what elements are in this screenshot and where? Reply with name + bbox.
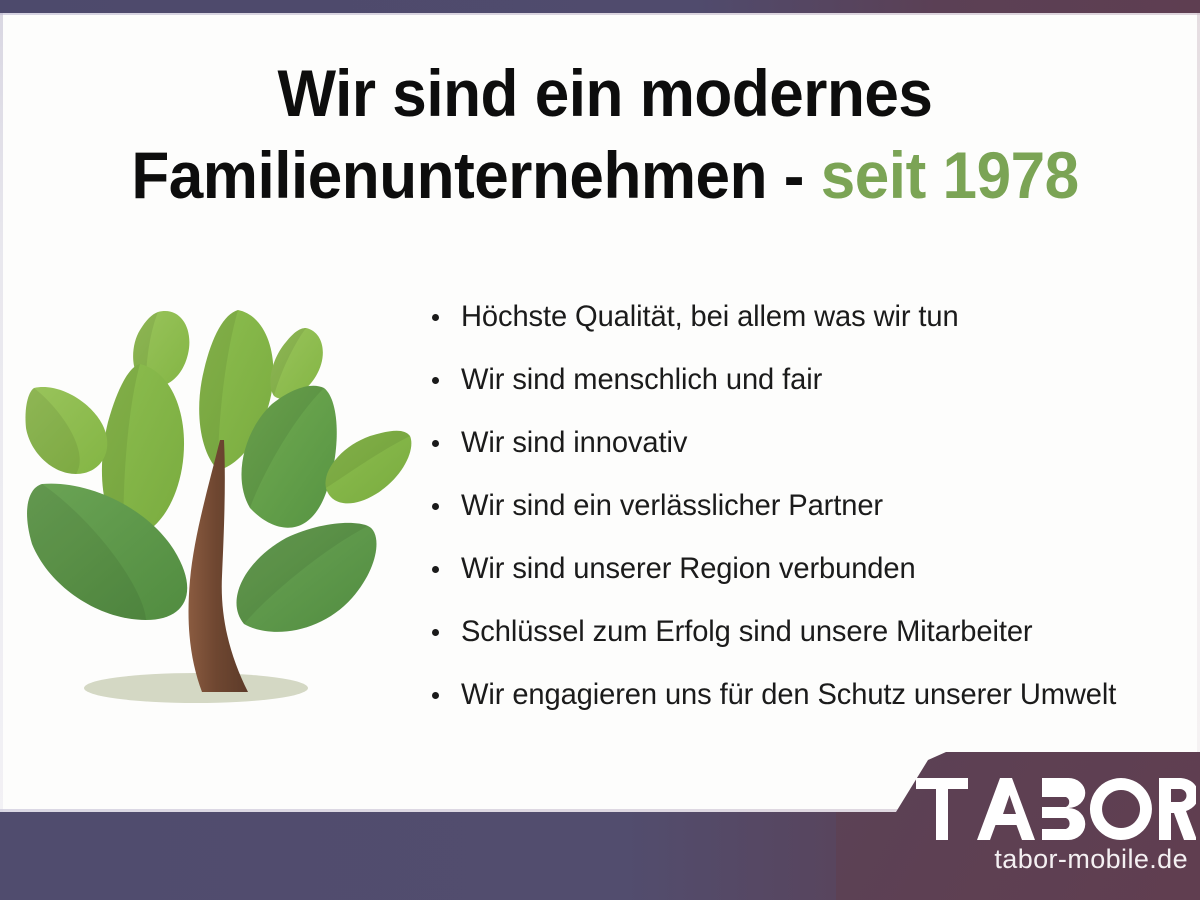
bullet-dot-icon (432, 503, 439, 510)
tree-trunk (189, 440, 249, 692)
leaf-far-right (325, 431, 411, 504)
bullet-dot-icon (432, 629, 439, 636)
bullet-dot-icon (432, 566, 439, 573)
headline-line-1: Wir sind ein modernes (278, 56, 933, 130)
left-edge-strip (0, 13, 3, 812)
slide-canvas: Wir sind ein modernes Familienunternehme… (0, 0, 1200, 900)
list-item: Höchste Qualität, bei allem was wir tun (428, 285, 1188, 348)
bullet-dot-icon (432, 440, 439, 447)
bullet-dot-icon (432, 692, 439, 699)
headline-line-2-prefix: Familienunternehmen - (131, 138, 820, 212)
slide-headline: Wir sind ein modernes Familienunternehme… (93, 52, 1118, 216)
bullet-label: Wir sind menschlich und fair (461, 363, 822, 397)
list-item: Wir sind unserer Region verbunden (428, 537, 1188, 600)
bullet-label: Wir sind ein verlässlicher Partner (461, 489, 883, 523)
top-bar-hairline (0, 13, 1200, 15)
bullet-label: Wir sind innovativ (461, 426, 687, 460)
tree-shadow (84, 673, 308, 703)
bullet-label: Wir sind unserer Region verbunden (461, 552, 916, 586)
headline-accent-year: seit 1978 (821, 138, 1079, 212)
list-item: Wir sind innovativ (428, 411, 1188, 474)
list-item: Schlüssel zum Erfolg sind unsere Mitarbe… (428, 600, 1188, 663)
logo-url-label[interactable]: tabor-mobile.de (916, 844, 1188, 875)
bullet-label: Höchste Qualität, bei allem was wir tun (461, 300, 959, 334)
leaf-lower-right (236, 523, 376, 632)
headline-line-2: Familienunternehmen - seit 1978 (93, 134, 1118, 216)
leaf-far-left-upper (25, 387, 107, 474)
bullet-list: Höchste Qualität, bei allem was wir tun … (428, 285, 1188, 726)
tabor-logo-wordmark[interactable] (916, 778, 1196, 840)
bullet-label: Schlüssel zum Erfolg sind unsere Mitarbe… (461, 615, 1033, 649)
bullet-label: Wir engagieren uns für den Schutz unsere… (461, 678, 1116, 712)
list-item: Wir engagieren uns für den Schutz unsere… (428, 663, 1188, 726)
bullet-dot-icon (432, 377, 439, 384)
top-accent-bar (0, 0, 1200, 13)
bullet-dot-icon (432, 314, 439, 321)
list-item: Wir sind menschlich und fair (428, 348, 1188, 411)
list-item: Wir sind ein verlässlicher Partner (428, 474, 1188, 537)
tree-illustration (18, 288, 422, 712)
